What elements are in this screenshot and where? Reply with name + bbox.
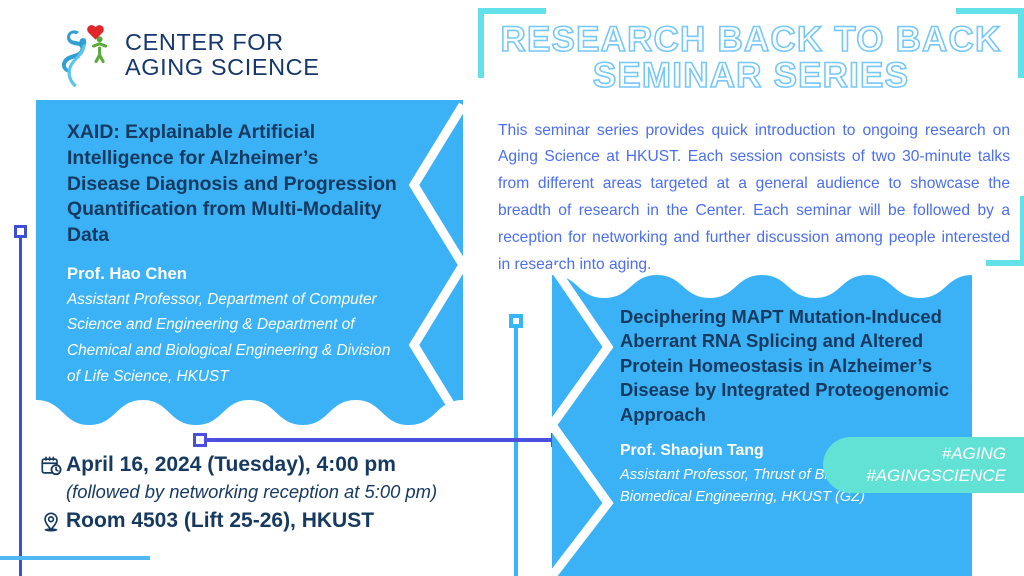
organization-logo: CENTER FOR AGING SCIENCE: [55, 16, 355, 94]
hashtag-line-1: #AGING: [942, 443, 1006, 465]
page-title-line-2: SEMINAR SERIES: [478, 58, 1024, 94]
talk-2-title: Deciphering MAPT Mutation-Induced Aberra…: [620, 305, 950, 427]
decor-vertical-line-light: [514, 320, 518, 576]
corner-bracket-bottom-right-icon: [986, 196, 1024, 266]
decor-square-endpoint-dark: [14, 225, 27, 238]
event-location: Room 4503 (Lift 25-26), HKUST: [66, 508, 374, 535]
event-date-row: April 16, 2024 (Tuesday), 4:00 pm: [36, 452, 506, 479]
decor-horizontal-line-bottom-left: [0, 556, 150, 560]
event-note: (followed by networking reception at 5:0…: [66, 480, 506, 504]
event-location-row: Room 4503 (Lift 25-26), HKUST: [36, 508, 506, 535]
hero-title-block: RESEARCH BACK TO BACK SEMINAR SERIES: [478, 8, 1024, 100]
poster-canvas: CENTER FOR AGING SCIENCE RESEARCH BACK T…: [0, 0, 1024, 576]
talk-1-affiliation: Assistant Professor, Department of Compu…: [67, 287, 397, 391]
logo-line-1: CENTER FOR: [125, 30, 320, 55]
event-details: April 16, 2024 (Tuesday), 4:00 pm (follo…: [36, 452, 506, 536]
decor-square-endpoint-light: [509, 314, 523, 328]
event-date: April 16, 2024 (Tuesday), 4:00 pm: [66, 452, 396, 479]
logo-line-2: AGING SCIENCE: [125, 55, 320, 80]
decor-connector-endpoint-left: [193, 433, 207, 447]
hashtag-badge: #AGING #AGINGSCIENCE: [823, 437, 1024, 493]
location-pin-icon: [36, 508, 66, 533]
page-title-line-1: RESEARCH BACK TO BACK: [478, 22, 1024, 58]
talk-card-2: Deciphering MAPT Mutation-Induced Aberra…: [552, 265, 972, 576]
page-title: RESEARCH BACK TO BACK SEMINAR SERIES: [478, 22, 1024, 93]
talk-card-1: XAID: Explainable Artificial Intelligenc…: [36, 100, 463, 435]
talk-1-title: XAID: Explainable Artificial Intelligenc…: [67, 120, 397, 249]
decor-connector-line: [198, 438, 562, 442]
talk-card-1-content: XAID: Explainable Artificial Intelligenc…: [67, 120, 397, 390]
calendar-clock-icon: [36, 452, 66, 477]
decor-vertical-line-dark: [19, 232, 22, 576]
aging-science-logo-icon: [55, 19, 117, 91]
series-description: This seminar series provides quick intro…: [498, 118, 1010, 279]
talk-1-speaker: Prof. Hao Chen: [67, 263, 397, 285]
hashtag-line-2: #AGINGSCIENCE: [866, 465, 1006, 487]
